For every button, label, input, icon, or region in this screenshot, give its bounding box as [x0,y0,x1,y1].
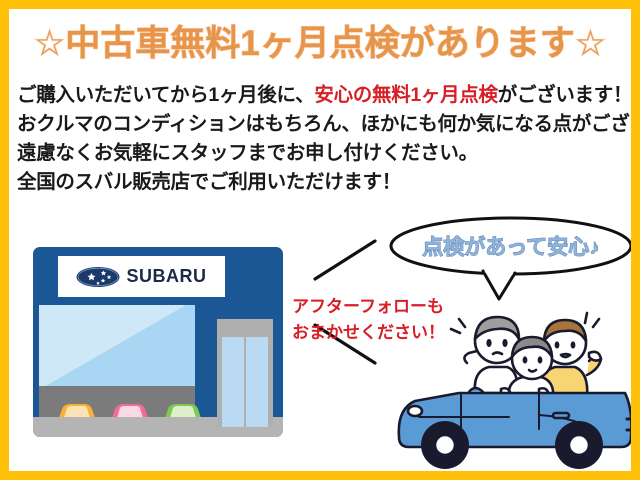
dealership-illustration: SUBARU [25,247,283,445]
page-title: ☆中古車無料1ヶ月点検があります☆ [9,25,631,64]
copy-line-1-pre: ご購入いただいてから1ヶ月後に、 [17,84,314,106]
copy-line-1-highlight: 安心の無料1ヶ月点検 [314,84,497,106]
copy-line-1: ご購入いただいてから1ヶ月後に、安心の無料1ヶ月点検がございます！ [17,81,627,110]
promotional-poster: ☆中古車無料1ヶ月点検があります☆ ご購入いただいてから1ヶ月後に、安心の無料1… [0,0,640,480]
shop-signboard: SUBARU [58,256,225,297]
copy-line-4: 全国のスバル販売店でご利用いただけます！ [17,168,627,197]
copy-line-2: おクルマのコンディションはもちろん、ほかにも何か気になる点がございましたら [17,110,627,139]
subaru-wordmark: SUBARU [126,266,206,287]
shop-door-divider [244,337,246,427]
shop-entrance-door [217,319,273,427]
copy-line-3: 遠慮なくお気軽にスタッフまでお申し付けください。 [17,139,627,168]
blue-family-car [399,388,632,469]
subaru-six-star-oval-icon [76,266,120,288]
family-in-car-illustration [389,297,639,477]
speech-bubble: 点検があって安心♪ [387,215,635,277]
father-figure [464,317,519,393]
body-copy-block: ご購入いただいてから1ヶ月後に、安心の無料1ヶ月点検がございます！ おクルマのコ… [17,81,627,197]
speech-bubble-text: 点検があって安心♪ [387,215,635,277]
copy-line-1-post: がございます！ [498,84,632,106]
